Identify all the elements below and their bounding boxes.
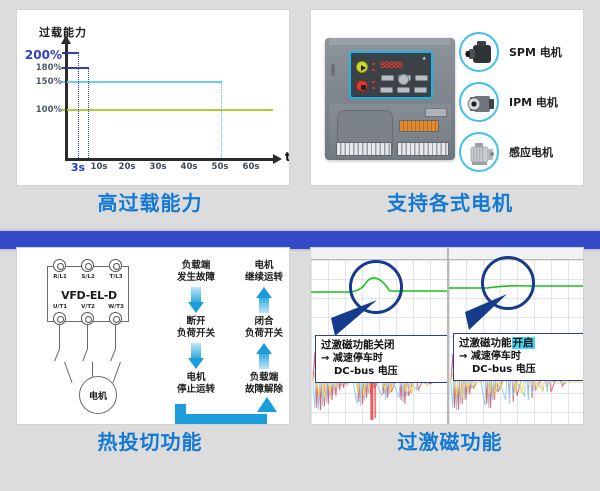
flow-step-4-line1: 负载端 xyxy=(233,372,290,384)
cell-motors: ▲ 88888 xyxy=(300,0,600,220)
cell-overexcitation: 过激磁功能关闭 → 减速停车时 DC-bus 电压 xyxy=(300,240,600,459)
key-4[interactable] xyxy=(380,87,393,93)
flow-arrow-down-1 xyxy=(188,287,204,313)
terminal-w-t3 xyxy=(109,312,122,325)
orange-connector xyxy=(399,120,439,132)
terminal-u-t1 xyxy=(53,312,66,325)
panel-supported-motors: ▲ 88888 xyxy=(310,9,584,186)
wire-motor-w xyxy=(113,362,122,383)
terminal-label-v-t2: V/T2 xyxy=(81,304,95,310)
series-150 xyxy=(67,81,222,83)
motor-row-spm: SPM 电机 xyxy=(459,30,562,74)
caption-overexcitation: 过激磁功能 xyxy=(300,425,600,459)
switch-blade-w xyxy=(110,349,116,361)
series-180-dropline xyxy=(88,67,89,158)
magnifier-pointer-right xyxy=(461,292,511,336)
flow-step-5-line1: 闭合 xyxy=(233,316,290,328)
y-tick-150: 150% xyxy=(36,77,62,87)
x-tick-3s: 3s xyxy=(71,161,85,174)
series-200-dropline xyxy=(78,52,79,158)
motor-label-spm: SPM 电机 xyxy=(509,44,562,60)
callout-right-title-prefix: 过激磁功能 xyxy=(459,337,512,349)
motor-row-ipm: IPM 电机 xyxy=(459,80,562,124)
wire-v xyxy=(87,325,88,349)
flow-arrow-up-1 xyxy=(256,287,272,313)
motor-row-induction: 感应电机 xyxy=(459,130,562,174)
terminal-strip-right xyxy=(397,142,449,156)
terminal-label-s-l2: S/L2 xyxy=(81,274,94,280)
terminal-label-u-t1: U/T1 xyxy=(53,304,67,310)
cell-hotswap: VFD-EL-D R/L1 S/L2 T/L3 U/T1 V/T2 W/T3 xyxy=(0,240,300,459)
side-slot xyxy=(331,64,335,76)
wire-motor-u xyxy=(64,362,73,383)
y-tick-180: 180% xyxy=(36,63,62,73)
callout-left-line2: → 减速停车时 xyxy=(321,352,445,365)
x-tick-60s: 60s xyxy=(243,162,260,172)
seven-segment-display: 88888 xyxy=(380,61,430,71)
caption-overload: 高过载能力 xyxy=(0,186,300,220)
x-axis-label: t xyxy=(285,150,290,164)
y-tick-100: 100% xyxy=(36,105,62,115)
terminal-r-l1 xyxy=(53,259,66,272)
flow-step-1-line2: 发生故障 xyxy=(165,272,227,284)
motor-symbol: 电机 xyxy=(79,376,117,414)
key-5[interactable] xyxy=(397,87,410,93)
callout-left-title-state: 关闭 xyxy=(374,339,395,351)
caption-hotswap: 热投切功能 xyxy=(0,425,300,459)
x-tick-50s: 50s xyxy=(212,162,229,172)
keypad-panel: ▲ 88888 xyxy=(349,51,433,99)
callout-right-line2: → 减速停车时 xyxy=(459,350,583,363)
terminal-s-l2 xyxy=(81,259,94,272)
flow-step-3-line2: 停止运转 xyxy=(165,384,227,396)
series-150-dropline xyxy=(221,81,222,158)
scope-capture-off: 过激磁功能关闭 → 减速停车时 DC-bus 电压 xyxy=(311,248,447,424)
terminal-label-r-l1: R/L1 xyxy=(53,274,67,280)
cell-overload: 过载能力 200% 180% 150% 100% xyxy=(0,0,300,220)
x-tick-40s: 40s xyxy=(181,162,198,172)
panel-over-excitation: 过激磁功能关闭 → 减速停车时 DC-bus 电压 xyxy=(310,247,584,425)
key-6[interactable] xyxy=(414,87,427,93)
callout-right-title-state: 开启 xyxy=(512,337,535,349)
callout-right-line3: DC-bus 电压 xyxy=(459,363,583,376)
wire-u xyxy=(59,325,60,349)
y-axis xyxy=(65,43,68,160)
spm-motor-icon xyxy=(459,32,499,72)
switch-blade-v xyxy=(82,349,88,361)
flow-arrow-up-2 xyxy=(256,343,272,369)
terminal-v-t2 xyxy=(81,312,94,325)
flow-arrow-down-2 xyxy=(188,343,204,369)
y-tick-200: 200% xyxy=(25,48,62,62)
switch-blade-u xyxy=(54,349,60,361)
key-3[interactable] xyxy=(415,75,428,81)
panel-overload-capability: 过载能力 200% 180% 150% 100% xyxy=(16,9,290,186)
feature-grid-bottom: VFD-EL-D R/L1 S/L2 T/L3 U/T1 V/T2 W/T3 xyxy=(0,240,600,459)
motor-type-list: SPM 电机 IPM 电机 xyxy=(459,30,562,180)
flow-column-right: 电机 继续运转 闭合 负荷开关 负载端 故障解除 xyxy=(233,260,290,396)
feature-grid: 过载能力 200% 180% 150% 100% xyxy=(0,0,600,220)
flow-step-6-line1: 电机 xyxy=(233,260,290,272)
terminal-t-l3 xyxy=(109,259,122,272)
callout-right-title: 过激磁功能开启 xyxy=(459,337,583,350)
callout-left-title: 过激磁功能关闭 xyxy=(321,339,445,352)
key-1[interactable] xyxy=(381,75,394,81)
delta-logo: ▲ xyxy=(410,55,426,60)
flow-column-left: 负载端 发生故障 断开 负荷开关 电机 停止运转 xyxy=(165,260,227,396)
flow-step-2-line2: 负荷开关 xyxy=(165,328,227,340)
stop-button-icon[interactable] xyxy=(356,80,368,92)
flow-loop-arrow xyxy=(171,400,290,425)
flow-step-5-line2: 负荷开关 xyxy=(233,328,290,340)
flow-step-2-line1: 断开 xyxy=(165,316,227,328)
panel-hot-swap: VFD-EL-D R/L1 S/L2 T/L3 U/T1 V/T2 W/T3 xyxy=(16,247,290,425)
scope-capture-on: 过激磁功能开启 → 减速停车时 DC-bus 电压 xyxy=(447,248,583,424)
key-wheel[interactable] xyxy=(398,74,409,85)
callout-right: 过激磁功能开启 → 减速停车时 DC-bus 电压 xyxy=(453,333,583,381)
x-tick-30s: 30s xyxy=(150,162,167,172)
run-button-icon[interactable] xyxy=(356,61,368,73)
callout-left-line3: DC-bus 电压 xyxy=(321,365,445,378)
x-tick-10s: 10s xyxy=(91,162,108,172)
caption-motors: 支持各式电机 xyxy=(300,186,600,220)
flow-step-1-line1: 负载端 xyxy=(165,260,227,272)
motor-label-ipm: IPM 电机 xyxy=(509,94,558,110)
vfd-drive-image: ▲ 88888 xyxy=(325,38,455,160)
x-tick-20s: 20s xyxy=(119,162,136,172)
magnifier-pointer-left xyxy=(329,296,379,340)
connector-tab xyxy=(425,108,447,117)
terminal-label-t-l3: T/L3 xyxy=(109,274,122,280)
overload-chart: 过载能力 200% 180% 150% 100% xyxy=(17,10,289,185)
scope-toolbar-left xyxy=(311,248,447,260)
vfd-model-label: VFD-EL-D xyxy=(48,289,130,302)
motor-label-induction: 感应电机 xyxy=(509,144,553,160)
flow-step-4-line2: 故障解除 xyxy=(233,384,290,396)
induction-motor-icon xyxy=(459,132,499,172)
terminal-strip-left xyxy=(336,142,392,156)
series-100 xyxy=(67,109,273,111)
terminal-label-w-t3: W/T3 xyxy=(108,304,124,310)
wire-w xyxy=(115,325,116,349)
callout-left-title-prefix: 过激磁功能 xyxy=(321,339,374,351)
callout-left: 过激磁功能关闭 → 减速停车时 DC-bus 电压 xyxy=(315,335,447,383)
flow-step-3-line1: 电机 xyxy=(165,372,227,384)
ipm-motor-icon xyxy=(459,82,499,122)
flow-step-6-line2: 继续运转 xyxy=(233,272,290,284)
x-axis xyxy=(65,158,273,161)
